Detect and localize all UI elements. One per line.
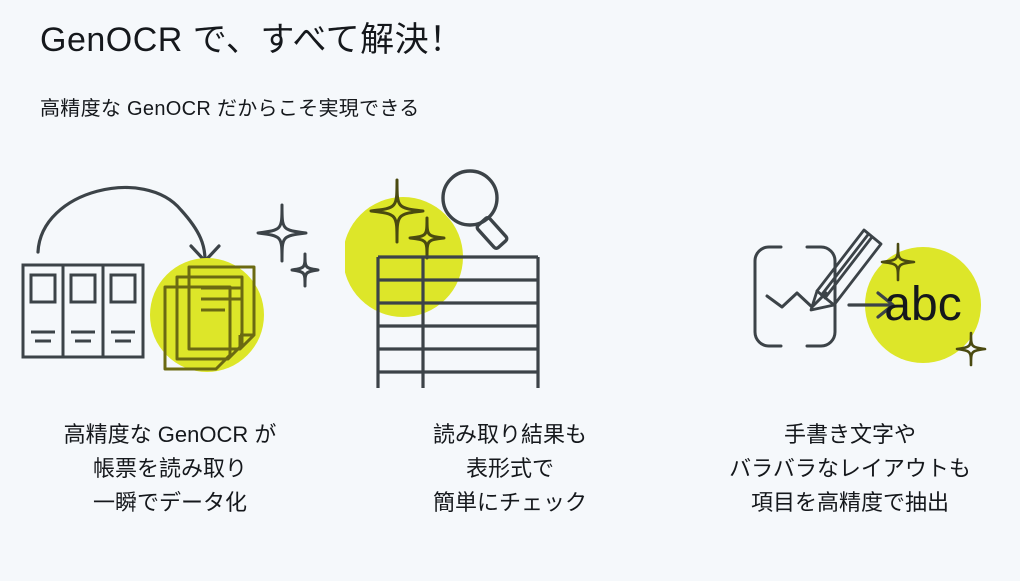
feature-card-ocr-capture: 高精度な GenOCR が 帳票を読み取り 一瞬でデータ化 (0, 160, 340, 520)
illustration-handwriting-pencil-abc: abc (685, 160, 1015, 410)
binder-icon (23, 265, 143, 357)
caption-line: 簡単にチェック (433, 486, 587, 520)
illustration-magnifier-table (345, 160, 675, 410)
abc-text-icon: abc (884, 278, 961, 331)
page-subtitle: 高精度な GenOCR だからこそ実現できる (40, 92, 420, 121)
caption-line: 項目を高精度で抽出 (729, 486, 971, 520)
promo-page: GenOCR で、すべて解決！ 高精度な GenOCR だからこそ実現できる (0, 0, 1020, 581)
caption-line: 表形式で (433, 452, 587, 486)
page-title: GenOCR で、すべて解決！ (40, 12, 464, 61)
caption-line: 手書き文字や (729, 418, 971, 452)
feature-card-handwriting-extract: abc 手書き文字や バラバラなレイアウトも 項目を高精度で抽出 (680, 160, 1020, 520)
caption-line: 一瞬でデータ化 (64, 486, 277, 520)
caption-line: 読み取り結果も (433, 418, 587, 452)
feature-caption: 読み取り結果も 表形式で 簡単にチェック (433, 418, 587, 520)
feature-caption: 手書き文字や バラバラなレイアウトも 項目を高精度で抽出 (729, 418, 971, 520)
curved-arrow-icon (38, 188, 219, 261)
caption-line: バラバラなレイアウトも (729, 452, 971, 486)
feature-caption: 高精度な GenOCR が 帳票を読み取り 一瞬でデータ化 (64, 418, 277, 520)
sparkle-icon (258, 205, 318, 286)
feature-card-list: 高精度な GenOCR が 帳票を読み取り 一瞬でデータ化 (0, 160, 1020, 580)
feature-card-table-check: 読み取り結果も 表形式で 簡単にチェック (340, 160, 680, 520)
caption-line: 帳票を読み取り (64, 452, 277, 486)
illustration-binders-arrow-documents (5, 160, 335, 410)
caption-line: 高精度な GenOCR が (64, 418, 277, 452)
accent-circle (150, 258, 264, 372)
